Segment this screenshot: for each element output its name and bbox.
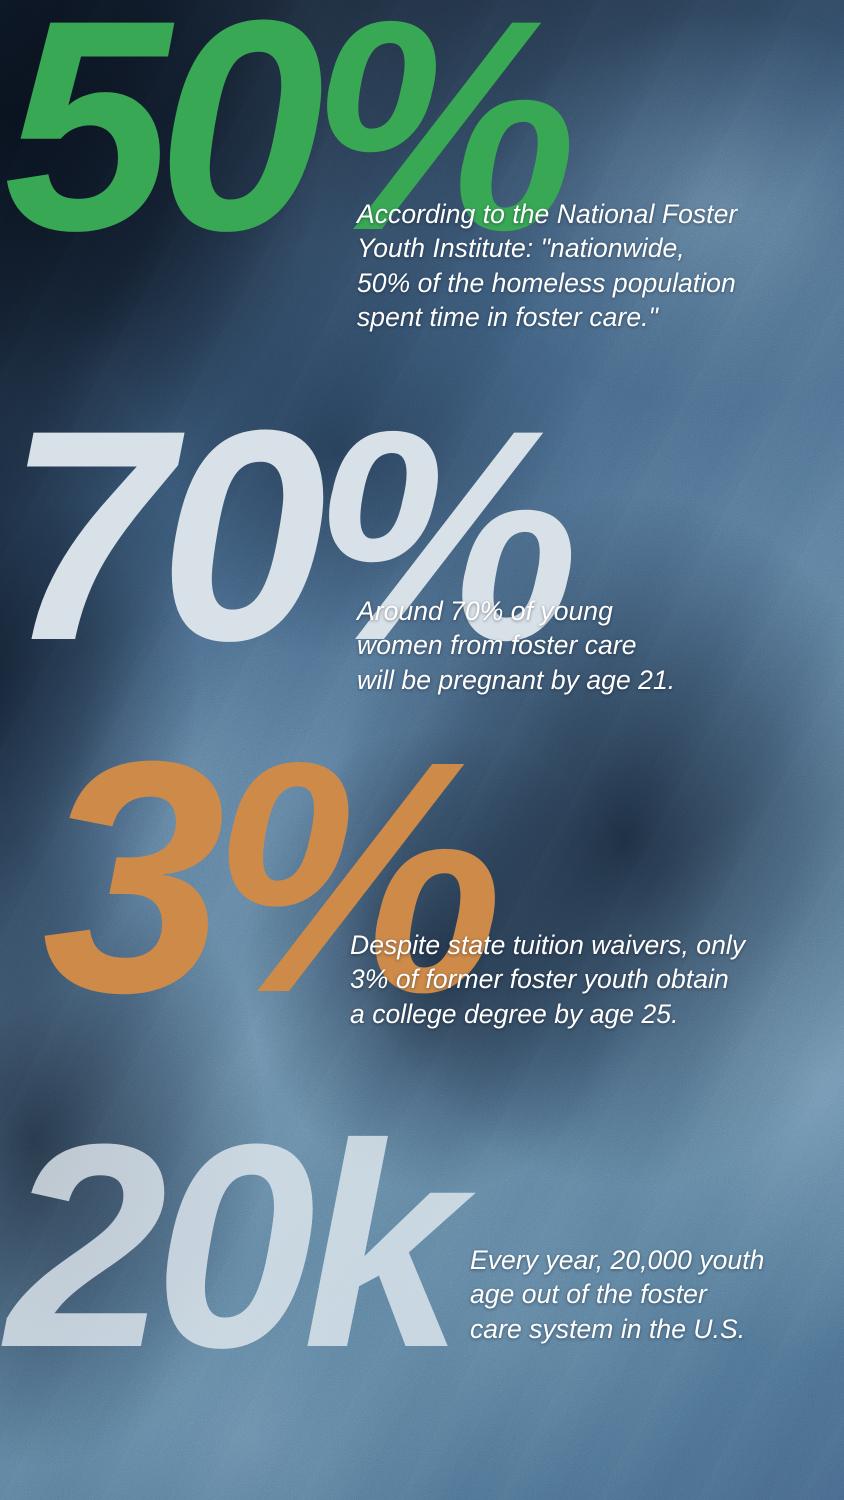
stat-description-college-degree: Despite state tuition waivers, only 3% o… (350, 928, 745, 1031)
stat-figure-20k: 20k (6, 1133, 451, 1359)
stat-description-pregnancy: Around 70% of young women from foster ca… (357, 594, 675, 697)
infographic-poster: 50% According to the National Foster You… (0, 0, 844, 1500)
stat-description-aging-out: Every year, 20,000 youth age out of the … (470, 1243, 764, 1346)
stat-description-homelessness: According to the National Foster Youth I… (357, 197, 737, 335)
